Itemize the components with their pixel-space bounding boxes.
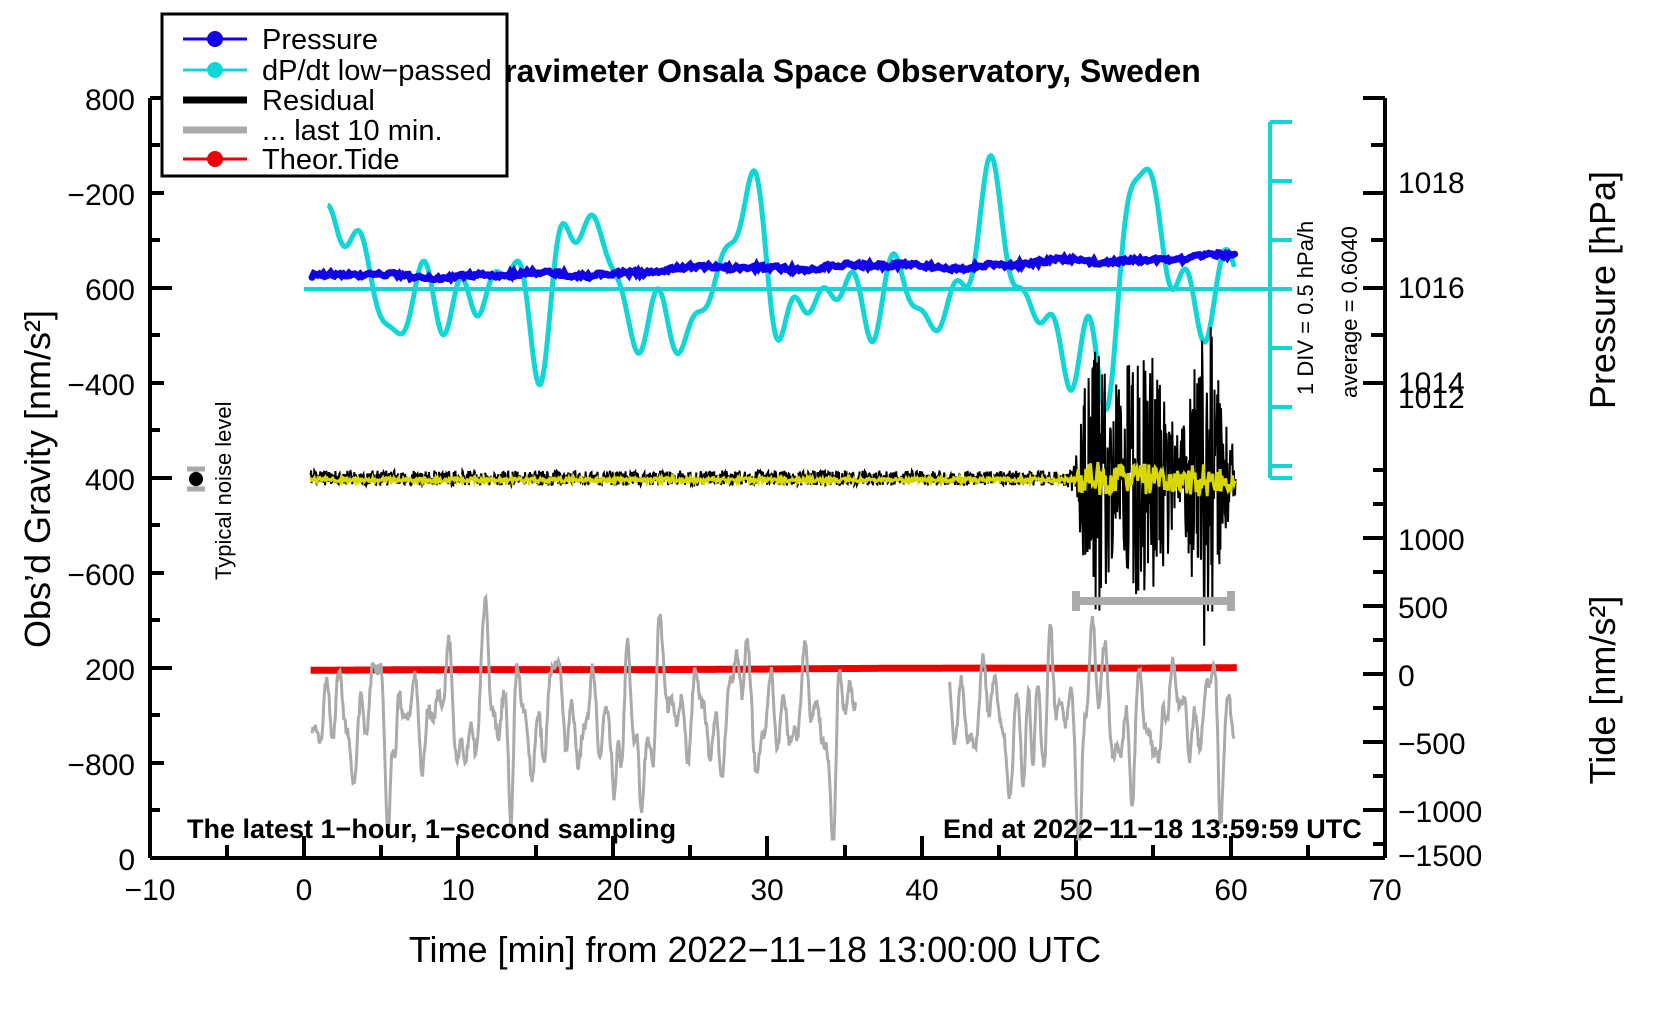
svg-text:500: 500 xyxy=(1398,592,1448,625)
svg-text:−400: −400 xyxy=(67,369,135,402)
footer-right-label: End at 2022−11−18 13:59:59 UTC xyxy=(943,814,1362,844)
svg-text:60: 60 xyxy=(1214,874,1247,907)
svg-text:0: 0 xyxy=(296,874,313,907)
svg-text:20: 20 xyxy=(596,874,629,907)
legend-label: Theor.Tide xyxy=(262,144,400,176)
legend-label: ... last 10 min. xyxy=(262,115,443,147)
svg-text:50: 50 xyxy=(1059,874,1092,907)
figure-canvas: 800 600 400 200 0 −200 −400 −600 −800 xyxy=(0,0,1660,1020)
svg-text:800: 800 xyxy=(85,84,135,117)
legend-label: Pressure xyxy=(262,24,378,56)
legend: Pressure dP/dt low−passed Residual ... l… xyxy=(162,14,507,176)
footer-left-label: The latest 1−hour, 1−second sampling xyxy=(187,814,676,844)
svg-text:0: 0 xyxy=(118,844,135,877)
svg-text:400: 400 xyxy=(85,464,135,497)
y-axis-left-title: Obs’d Gravity [nm/s²] xyxy=(17,310,58,648)
svg-text:−800: −800 xyxy=(67,749,135,782)
gravimeter-plot: 800 600 400 200 0 −200 −400 −600 −800 xyxy=(0,0,1660,1020)
average-label: average = 0.6040 xyxy=(1337,226,1362,398)
svg-text:70: 70 xyxy=(1368,874,1401,907)
svg-text:0: 0 xyxy=(1398,660,1415,693)
svg-text:1012: 1012 xyxy=(1398,382,1465,415)
svg-text:40: 40 xyxy=(905,874,938,907)
svg-text:30: 30 xyxy=(750,874,783,907)
series-theor-tide xyxy=(311,668,1237,671)
svg-text:−500: −500 xyxy=(1398,728,1466,761)
svg-text:10: 10 xyxy=(441,874,474,907)
x-axis-title: Time [min] from 2022−11−18 13:00:00 UTC xyxy=(409,929,1101,970)
noise-level-label: Typical noise level xyxy=(211,401,236,580)
legend-label: dP/dt low−passed xyxy=(262,55,492,87)
svg-text:−1000: −1000 xyxy=(1398,796,1482,829)
svg-text:1018: 1018 xyxy=(1398,167,1465,200)
legend-label: Residual xyxy=(262,85,375,117)
y-axis-right-tide-title: Tide [nm/s²] xyxy=(1582,596,1623,785)
svg-text:−1500: −1500 xyxy=(1398,840,1482,873)
svg-text:1016: 1016 xyxy=(1398,272,1465,305)
svg-text:1000: 1000 xyxy=(1398,524,1465,557)
y-axis-right-pressure-title: Pressure [hPa] xyxy=(1582,171,1623,409)
svg-text:−600: −600 xyxy=(67,559,135,592)
svg-text:−10: −10 xyxy=(125,874,176,907)
svg-text:−200: −200 xyxy=(67,179,135,212)
svg-text:200: 200 xyxy=(85,654,135,687)
div-scale-label: 1 DIV = 0.5 hPa/h xyxy=(1293,221,1318,395)
svg-text:600: 600 xyxy=(85,274,135,307)
